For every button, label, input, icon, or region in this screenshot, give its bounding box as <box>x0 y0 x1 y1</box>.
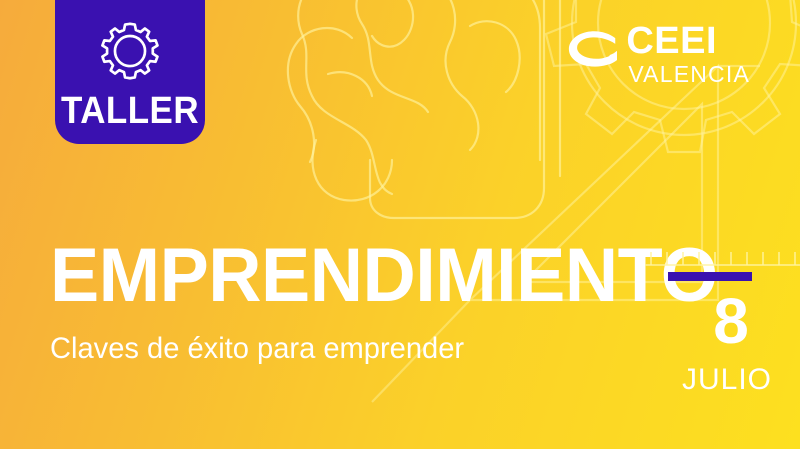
page-title: EMPRENDIMIENTO <box>50 240 718 312</box>
taller-badge: TALLER <box>55 0 205 144</box>
taller-badge-label: TALLER <box>61 92 199 130</box>
headline-block: EMPRENDIMIENTO Claves de éxito para empr… <box>50 240 738 364</box>
date-accent-rule <box>668 272 752 281</box>
event-poster: TALLER CEEI VALENCIA EMPRENDIMIENTO Clav… <box>0 0 800 449</box>
gear-icon <box>98 20 162 84</box>
event-month: JULIO <box>654 365 800 395</box>
ceei-logo-name: CEEI <box>626 22 750 60</box>
ceei-logo: CEEI VALENCIA <box>568 22 750 86</box>
page-subtitle: Claves de éxito para emprender <box>50 334 718 364</box>
ruler-ticks-icon <box>645 244 800 268</box>
event-date: 8 JULIO <box>648 272 800 395</box>
event-day: 8 <box>662 289 800 353</box>
ceei-logo-location: VALENCIA <box>628 63 750 86</box>
ceei-swoosh-icon <box>568 28 624 78</box>
brain-outline-icon <box>288 0 560 218</box>
